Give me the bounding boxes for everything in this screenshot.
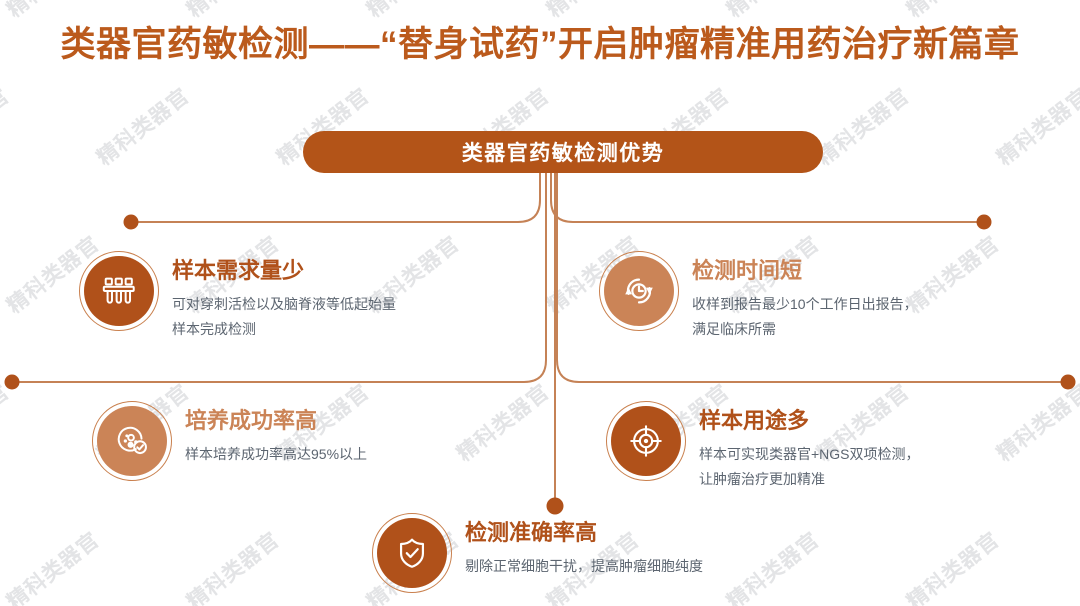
watermark-text: 精科类器官 <box>720 524 825 606</box>
dot-top-left <box>124 215 139 230</box>
icon-ring <box>92 401 172 481</box>
dot-mid-left <box>5 375 20 390</box>
feature-sample-versatility: 样本用途多 样本可实现类器官+NGS双项检测， 让肿瘤治疗更加精准 <box>611 406 920 491</box>
watermark-text: 精科类器官 <box>0 524 105 606</box>
dot-top-right <box>977 215 992 230</box>
feature-description: 样本培养成功率高达95%以上 <box>185 442 367 467</box>
feature-body: 培养成功率高 样本培养成功率高达95%以上 <box>185 406 367 467</box>
feature-title: 样本需求量少 <box>172 258 396 283</box>
watermark-text: 精科类器官 <box>0 80 15 171</box>
feature-body: 检测准确率高 剔除正常细胞干扰，提高肿瘤细胞纯度 <box>465 518 703 579</box>
feature-description: 样本可实现类器官+NGS双项检测， 让肿瘤治疗更加精准 <box>699 442 920 491</box>
feature-body: 样本用途多 样本可实现类器官+NGS双项检测， 让肿瘤治疗更加精准 <box>699 406 920 491</box>
feature-icon-circle <box>377 518 447 588</box>
dot-mid-right <box>1061 375 1076 390</box>
feature-icon-circle <box>604 256 674 326</box>
icon-ring <box>599 251 679 331</box>
page-title: 类器官药敏检测——“替身试药”开启肿瘤精准用药治疗新篇章 <box>0 16 1080 67</box>
feature-icon-circle <box>97 406 167 476</box>
watermark-text: 精科类器官 <box>810 80 915 171</box>
watermark-text: 精科类器官 <box>0 376 15 467</box>
infographic-canvas: 精科类器官精科类器官精科类器官精科类器官精科类器官精科类器官精科类器官精科类器官… <box>0 0 1080 606</box>
icon-ring <box>79 251 159 331</box>
feature-title: 培养成功率高 <box>185 408 367 433</box>
connector-top-right <box>551 173 984 222</box>
feature-sample-requirement: 样本需求量少 可对穿刺活检以及脑脊液等低起始量 样本完成检测 <box>84 256 396 341</box>
dot-bottom-center <box>547 498 564 515</box>
watermark-text: 精科类器官 <box>90 80 195 171</box>
feature-title: 检测时间短 <box>692 258 918 283</box>
watermark-text: 精科类器官 <box>900 524 1005 606</box>
feature-body: 检测时间短 收样到报告最少10个工作日出报告， 满足临床所需 <box>692 256 918 341</box>
feature-body: 样本需求量少 可对穿刺活检以及脑脊液等低起始量 样本完成检测 <box>172 256 396 341</box>
feature-icon-circle <box>611 406 681 476</box>
icon-ring <box>606 401 686 481</box>
watermark-text: 精科类器官 <box>990 376 1080 467</box>
watermark-text: 精科类器官 <box>450 376 555 467</box>
feature-title: 检测准确率高 <box>465 520 703 545</box>
feature-icon-circle <box>84 256 154 326</box>
connector-top-left <box>131 173 540 222</box>
watermark-text: 精科类器官 <box>180 524 285 606</box>
feature-description: 收样到报告最少10个工作日出报告， 满足临床所需 <box>692 292 918 341</box>
feature-detection-accuracy: 检测准确率高 剔除正常细胞干扰，提高肿瘤细胞纯度 <box>377 518 703 588</box>
advantages-banner-label: 类器官药敏检测优势 <box>462 137 665 167</box>
page-title-text: 类器官药敏检测——“替身试药”开启肿瘤精准用药治疗新篇章 <box>60 16 1019 67</box>
feature-title: 样本用途多 <box>699 408 920 433</box>
feature-description: 可对穿刺活检以及脑脊液等低起始量 样本完成检测 <box>172 292 396 341</box>
icon-ring <box>372 513 452 593</box>
feature-description: 剔除正常细胞干扰，提高肿瘤细胞纯度 <box>465 554 703 579</box>
watermark-text: 精科类器官 <box>990 80 1080 171</box>
feature-turnaround-time: 检测时间短 收样到报告最少10个工作日出报告， 满足临床所需 <box>604 256 918 341</box>
advantages-banner: 类器官药敏检测优势 <box>303 131 823 173</box>
feature-culture-success-rate: 培养成功率高 样本培养成功率高达95%以上 <box>97 406 367 476</box>
